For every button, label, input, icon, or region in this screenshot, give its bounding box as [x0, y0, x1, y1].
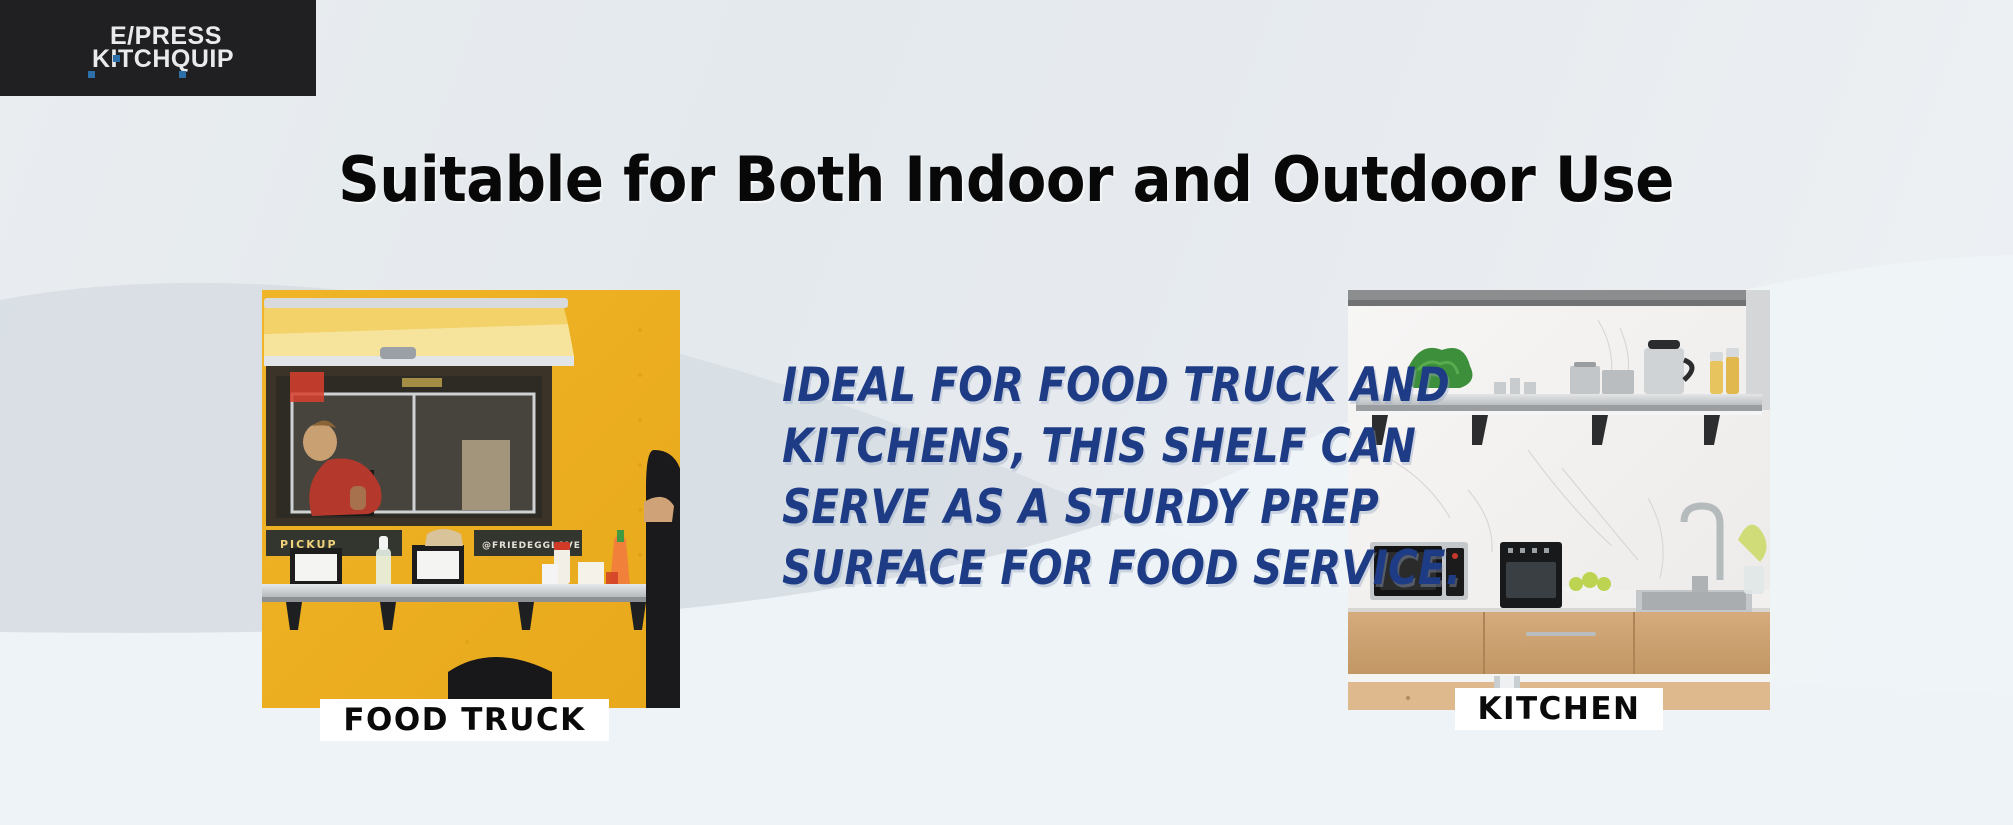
body-copy: IDEAL FOR FOOD TRUCK AND KITCHENS, THIS …	[745, 355, 1275, 599]
promo-banner: E/PRESS KITCHQUIP Suitable for Both Indo…	[0, 0, 2013, 825]
accent-dot-icon	[88, 71, 95, 78]
brand-logo-panel[interactable]: E/PRESS KITCHQUIP	[0, 0, 316, 96]
body-copy-line: IDEAL FOR FOOD TRUCK AND	[782, 355, 1238, 416]
accent-dot-icon	[179, 71, 186, 78]
body-copy-line: SERVE AS A STURDY PREP	[782, 477, 1238, 538]
logo-lockup: E/PRESS KITCHQUIP	[82, 25, 234, 71]
page-title: Suitable for Both Indoor and Outdoor Use	[0, 143, 2013, 216]
food-truck-illustration: PICKUP @FRIEDEGGLOVE	[262, 290, 680, 708]
kitchen-illustration	[1348, 290, 1770, 710]
caption-kitchen: KITCHEN	[1455, 688, 1663, 730]
caption-kitchen-text: KITCHEN	[1477, 691, 1640, 727]
caption-food-truck: FOOD TRUCK	[320, 699, 609, 741]
body-copy-line: KITCHENS, THIS SHELF CAN	[782, 416, 1238, 477]
accent-dot-icon	[113, 55, 120, 62]
caption-food-truck-text: FOOD TRUCK	[343, 702, 585, 738]
photo-kitchen	[1348, 290, 1770, 710]
headline-text: Suitable for Both Indoor and Outdoor Use	[339, 143, 1675, 216]
photo-food-truck: PICKUP @FRIEDEGGLOVE	[262, 290, 680, 708]
body-copy-line: SURFACE FOR FOOD SERVICE.	[782, 538, 1238, 599]
